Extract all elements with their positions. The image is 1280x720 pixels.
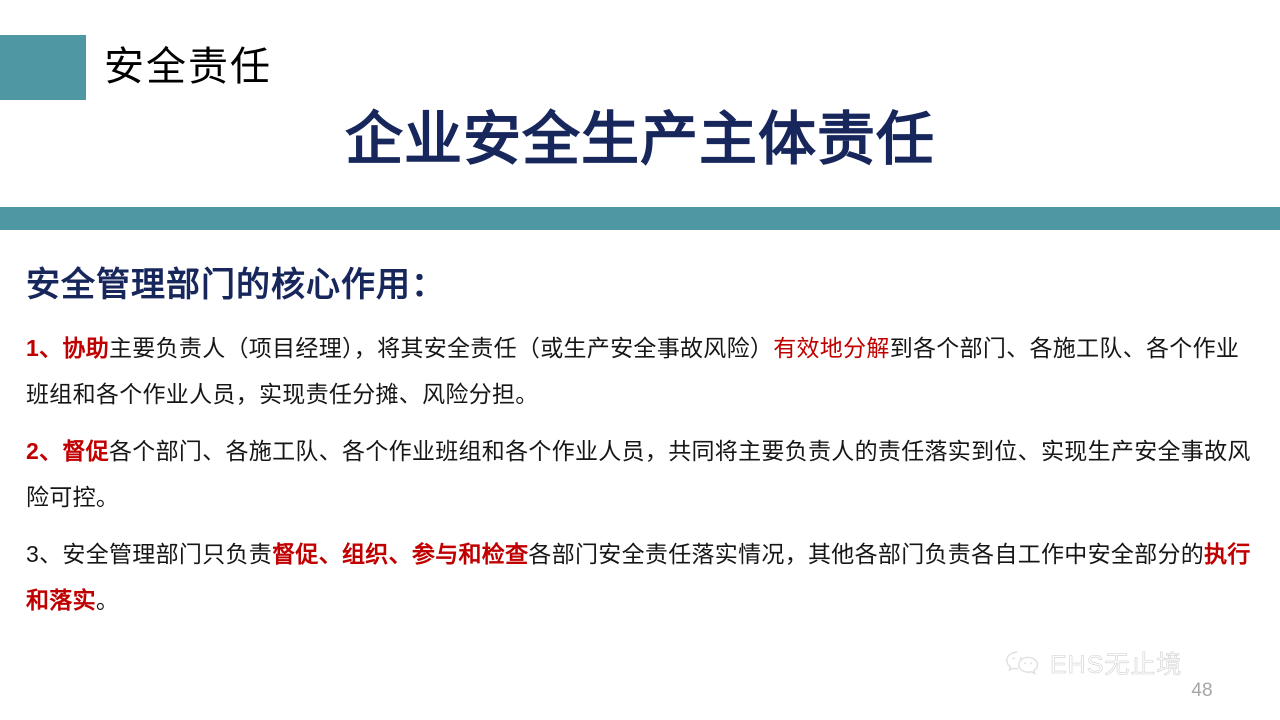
header-accent-box — [0, 35, 86, 100]
section-heading: 安全管理部门的核心作用： — [26, 262, 446, 308]
slide-header: 安全责任 企业安全生产主体责任 — [0, 0, 1280, 207]
slide-title: 企业安全生产主体责任 — [0, 103, 1280, 177]
watermark-label: EHS无止境 — [1050, 650, 1182, 680]
content-segment: 有效地分解 — [773, 335, 890, 361]
slide-body: 安全管理部门的核心作用： 1、协助主要负责人（项目经理），将其安全责任（或生产安… — [0, 230, 1280, 720]
content-segment: 各部门安全责任落实情况，其他各部门负责各自工作中安全部分的 — [528, 541, 1204, 567]
header-divider-bar — [0, 207, 1280, 230]
wechat-icon — [1004, 649, 1042, 682]
header-kicker: 安全责任 — [104, 38, 272, 96]
content-segment: 主要负责人（项目经理），将其安全责任（或生产安全事故风险） — [109, 335, 773, 361]
content-item: 2、督促各个部门、各施工队、各个作业班组和各个作业人员，共同将主要负责人的责任落… — [26, 428, 1256, 520]
content-list: 1、协助主要负责人（项目经理），将其安全责任（或生产安全事故风险）有效地分解到各… — [26, 325, 1256, 634]
content-item: 3、安全管理部门只负责督促、组织、参与和检查各部门安全责任落实情况，其他各部门负… — [26, 531, 1256, 623]
content-item: 1、协助主要负责人（项目经理），将其安全责任（或生产安全事故风险）有效地分解到各… — [26, 325, 1256, 417]
content-segment: 3、安全管理部门只负责 — [26, 541, 272, 567]
page-number: 48 — [1178, 679, 1226, 703]
content-segment: 各个部门、各施工队、各个作业班组和各个作业人员，共同将主要负责人的责任落实到位、… — [26, 438, 1251, 510]
content-segment: 1、协助 — [26, 335, 109, 361]
content-segment: 督促、组织、参与和检查 — [272, 541, 528, 567]
footer-watermark: EHS无止境 — [1004, 648, 1234, 682]
content-segment: 。 — [96, 587, 119, 613]
content-segment: 2、督促 — [26, 438, 109, 464]
